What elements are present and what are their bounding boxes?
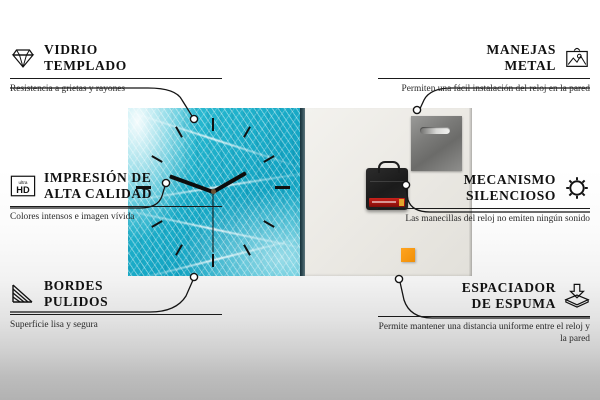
- product-infographic: VIDRIO TEMPLADO Resistencia a grietas y …: [0, 0, 600, 400]
- callout-hangers-rule: [378, 78, 590, 79]
- callout-mechanism-subtitle: Las manecillas del reloj no emiten ningú…: [378, 213, 590, 225]
- callout-print-head: ultra HD IMPRESIÓN DE ALTA CALIDAD: [10, 170, 222, 202]
- callout-edges-rule: [10, 314, 222, 315]
- callout-glass-title: VIDRIO TEMPLADO: [44, 42, 127, 74]
- callout-glass-title-line1: VIDRIO: [44, 42, 98, 57]
- callout-print-title: IMPRESIÓN DE ALTA CALIDAD: [44, 170, 152, 202]
- callout-glass-head: VIDRIO TEMPLADO: [10, 42, 222, 74]
- callout-mechanism-rule: [378, 208, 590, 209]
- clock-tick: [275, 186, 290, 189]
- callout-print-title-line2: ALTA CALIDAD: [44, 186, 152, 201]
- svg-text:HD: HD: [16, 185, 30, 195]
- callout-glass-title-line2: TEMPLADO: [44, 58, 127, 73]
- callout-edges-title-line2: PULIDOS: [44, 294, 108, 309]
- callout-print-title-line1: IMPRESIÓN DE: [44, 170, 151, 185]
- clock-tick: [212, 254, 214, 267]
- callout-glass: VIDRIO TEMPLADO Resistencia a grietas y …: [10, 42, 222, 95]
- callout-glass-subtitle: Resistencia a grietas y rayones: [10, 83, 222, 95]
- gear-icon: [564, 175, 590, 201]
- callout-mechanism-title-line1: MECANISMO: [464, 172, 556, 187]
- hanger-slot: [420, 127, 450, 134]
- callout-edges-title: BORDES PULIDOS: [44, 278, 108, 310]
- callout-spacer: ESPACIADOR DE ESPUMA Permite mantener un…: [378, 280, 590, 346]
- callout-mechanism-title-line2: SILENCIOSO: [466, 188, 556, 203]
- callout-spacer-title: ESPACIADOR DE ESPUMA: [462, 280, 556, 312]
- callout-print-subtitle: Colores intensos e imagen vívida: [10, 211, 222, 223]
- callout-hangers-subtitle: Permiten una fácil instalación del reloj…: [378, 83, 590, 95]
- callout-mechanism-head: MECANISMO SILENCIOSO: [378, 172, 590, 204]
- picture-hanger-icon: [564, 45, 590, 71]
- callout-spacer-head: ESPACIADOR DE ESPUMA: [378, 280, 590, 312]
- callout-spacer-rule: [378, 316, 590, 317]
- callout-hangers-title-line2: METAL: [504, 58, 556, 73]
- callout-edges-subtitle: Superficie lisa y segura: [10, 319, 222, 331]
- callout-print-rule: [10, 206, 222, 207]
- diamond-icon: [10, 45, 36, 71]
- foam-spacer: [401, 248, 415, 262]
- callout-edges: BORDES PULIDOS Superficie lisa y segura: [10, 278, 222, 331]
- callout-print: ultra HD IMPRESIÓN DE ALTA CALIDAD Color…: [10, 170, 222, 223]
- ultra-hd-icon: ultra HD: [10, 173, 36, 199]
- callout-hangers-title-line1: MANEJAS: [487, 42, 556, 57]
- callout-mechanism-title: MECANISMO SILENCIOSO: [464, 172, 556, 204]
- callout-mechanism: MECANISMO SILENCIOSO: [378, 172, 590, 225]
- callout-hangers: MANEJAS METAL Permiten una fácil instala…: [378, 42, 590, 95]
- callout-edges-title-line1: BORDES: [44, 278, 103, 293]
- callout-edges-head: BORDES PULIDOS: [10, 278, 222, 310]
- polished-edge-icon: [10, 281, 36, 307]
- callout-hangers-title: MANEJAS METAL: [487, 42, 556, 74]
- callout-spacer-subtitle: Permite mantener una distancia uniforme …: [378, 321, 590, 346]
- callout-spacer-title-line1: ESPACIADOR: [462, 280, 556, 295]
- clock-tick: [212, 118, 214, 131]
- callout-glass-rule: [10, 78, 222, 79]
- foam-spacer-icon: [564, 283, 590, 309]
- metal-hanger-plate: [411, 116, 462, 171]
- callout-spacer-title-line2: DE ESPUMA: [471, 296, 556, 311]
- callout-hangers-head: MANEJAS METAL: [378, 42, 590, 74]
